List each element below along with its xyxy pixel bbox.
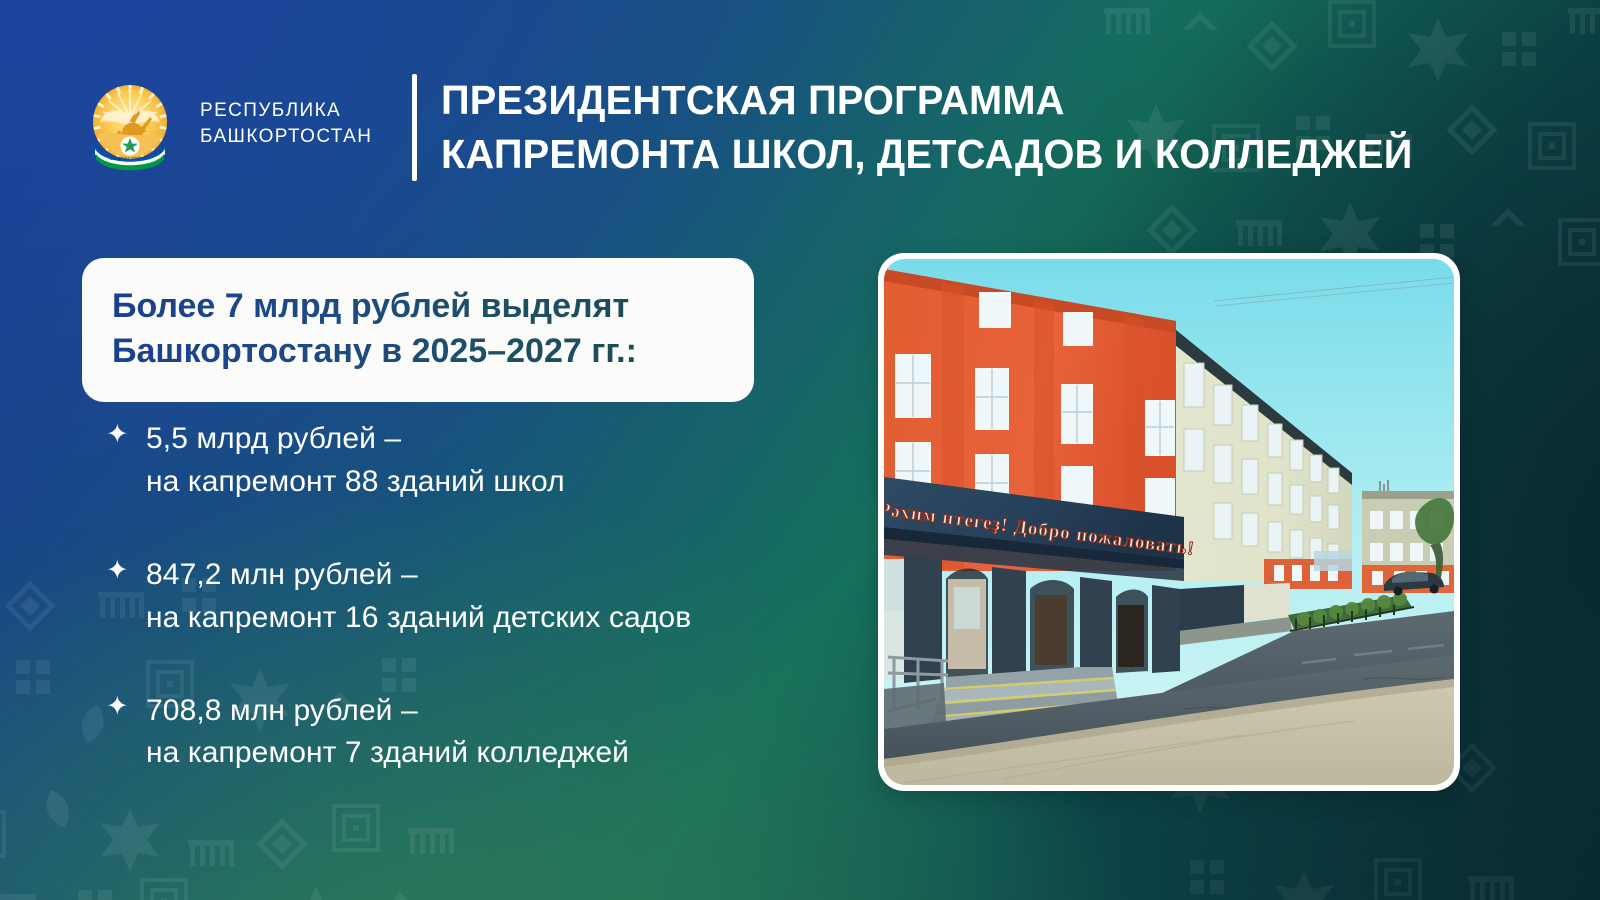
republic-label: РЕСПУБЛИКА БАШКОРТОСТАН (200, 98, 372, 150)
coat-of-arms-icon: БАШҠОРТОСТАН (78, 72, 182, 176)
school-building-photo: Рәхим итегеҙ! Добро пожаловать! (884, 259, 1454, 785)
sparkle-star-icon: ✦ (106, 554, 146, 640)
poster-title-block: ПРЕЗИДЕНТСКАЯ ПРОГРАММА КАПРЕМОНТА ШКОЛ,… (412, 74, 1443, 181)
list-item: ✦ 708,8 млн рублей – на капремонт 7 здан… (106, 690, 876, 776)
infographic-poster: БАШҠОРТОСТАН РЕСПУБЛИКА БАШКОРТОСТАН ПРЕ… (0, 0, 1600, 900)
list-item: ✦ 5,5 млрд рублей – на капремонт 88 здан… (106, 418, 876, 504)
list-item-text: 5,5 млрд рублей – на капремонт 88 зданий… (146, 418, 565, 504)
school-photo-frame: Рәхим итегеҙ! Добро пожаловать! (878, 253, 1460, 791)
list-item-text: 847,2 млн рублей – на капремонт 16 здани… (146, 554, 691, 640)
page-title: ПРЕЗИДЕНТСКАЯ ПРОГРАММА КАПРЕМОНТА ШКОЛ,… (441, 74, 1413, 181)
svg-text:БАШҠОРТОСТАН: БАШҠОРТОСТАН (110, 156, 150, 161)
title-accent-bar (412, 74, 417, 181)
sparkle-star-icon: ✦ (106, 418, 146, 504)
sparkle-star-icon: ✦ (106, 690, 146, 776)
highlight-card-text: Более 7 млрд рублей выделят Башкортостан… (112, 284, 720, 374)
allocation-bullet-list: ✦ 5,5 млрд рублей – на капремонт 88 здан… (106, 418, 876, 775)
highlight-card: Более 7 млрд рублей выделят Башкортостан… (82, 258, 754, 402)
brand-header: БАШҠОРТОСТАН РЕСПУБЛИКА БАШКОРТОСТАН (78, 72, 372, 176)
list-item: ✦ 847,2 млн рублей – на капремонт 16 зда… (106, 554, 876, 640)
list-item-text: 708,8 млн рублей – на капремонт 7 зданий… (146, 690, 629, 776)
